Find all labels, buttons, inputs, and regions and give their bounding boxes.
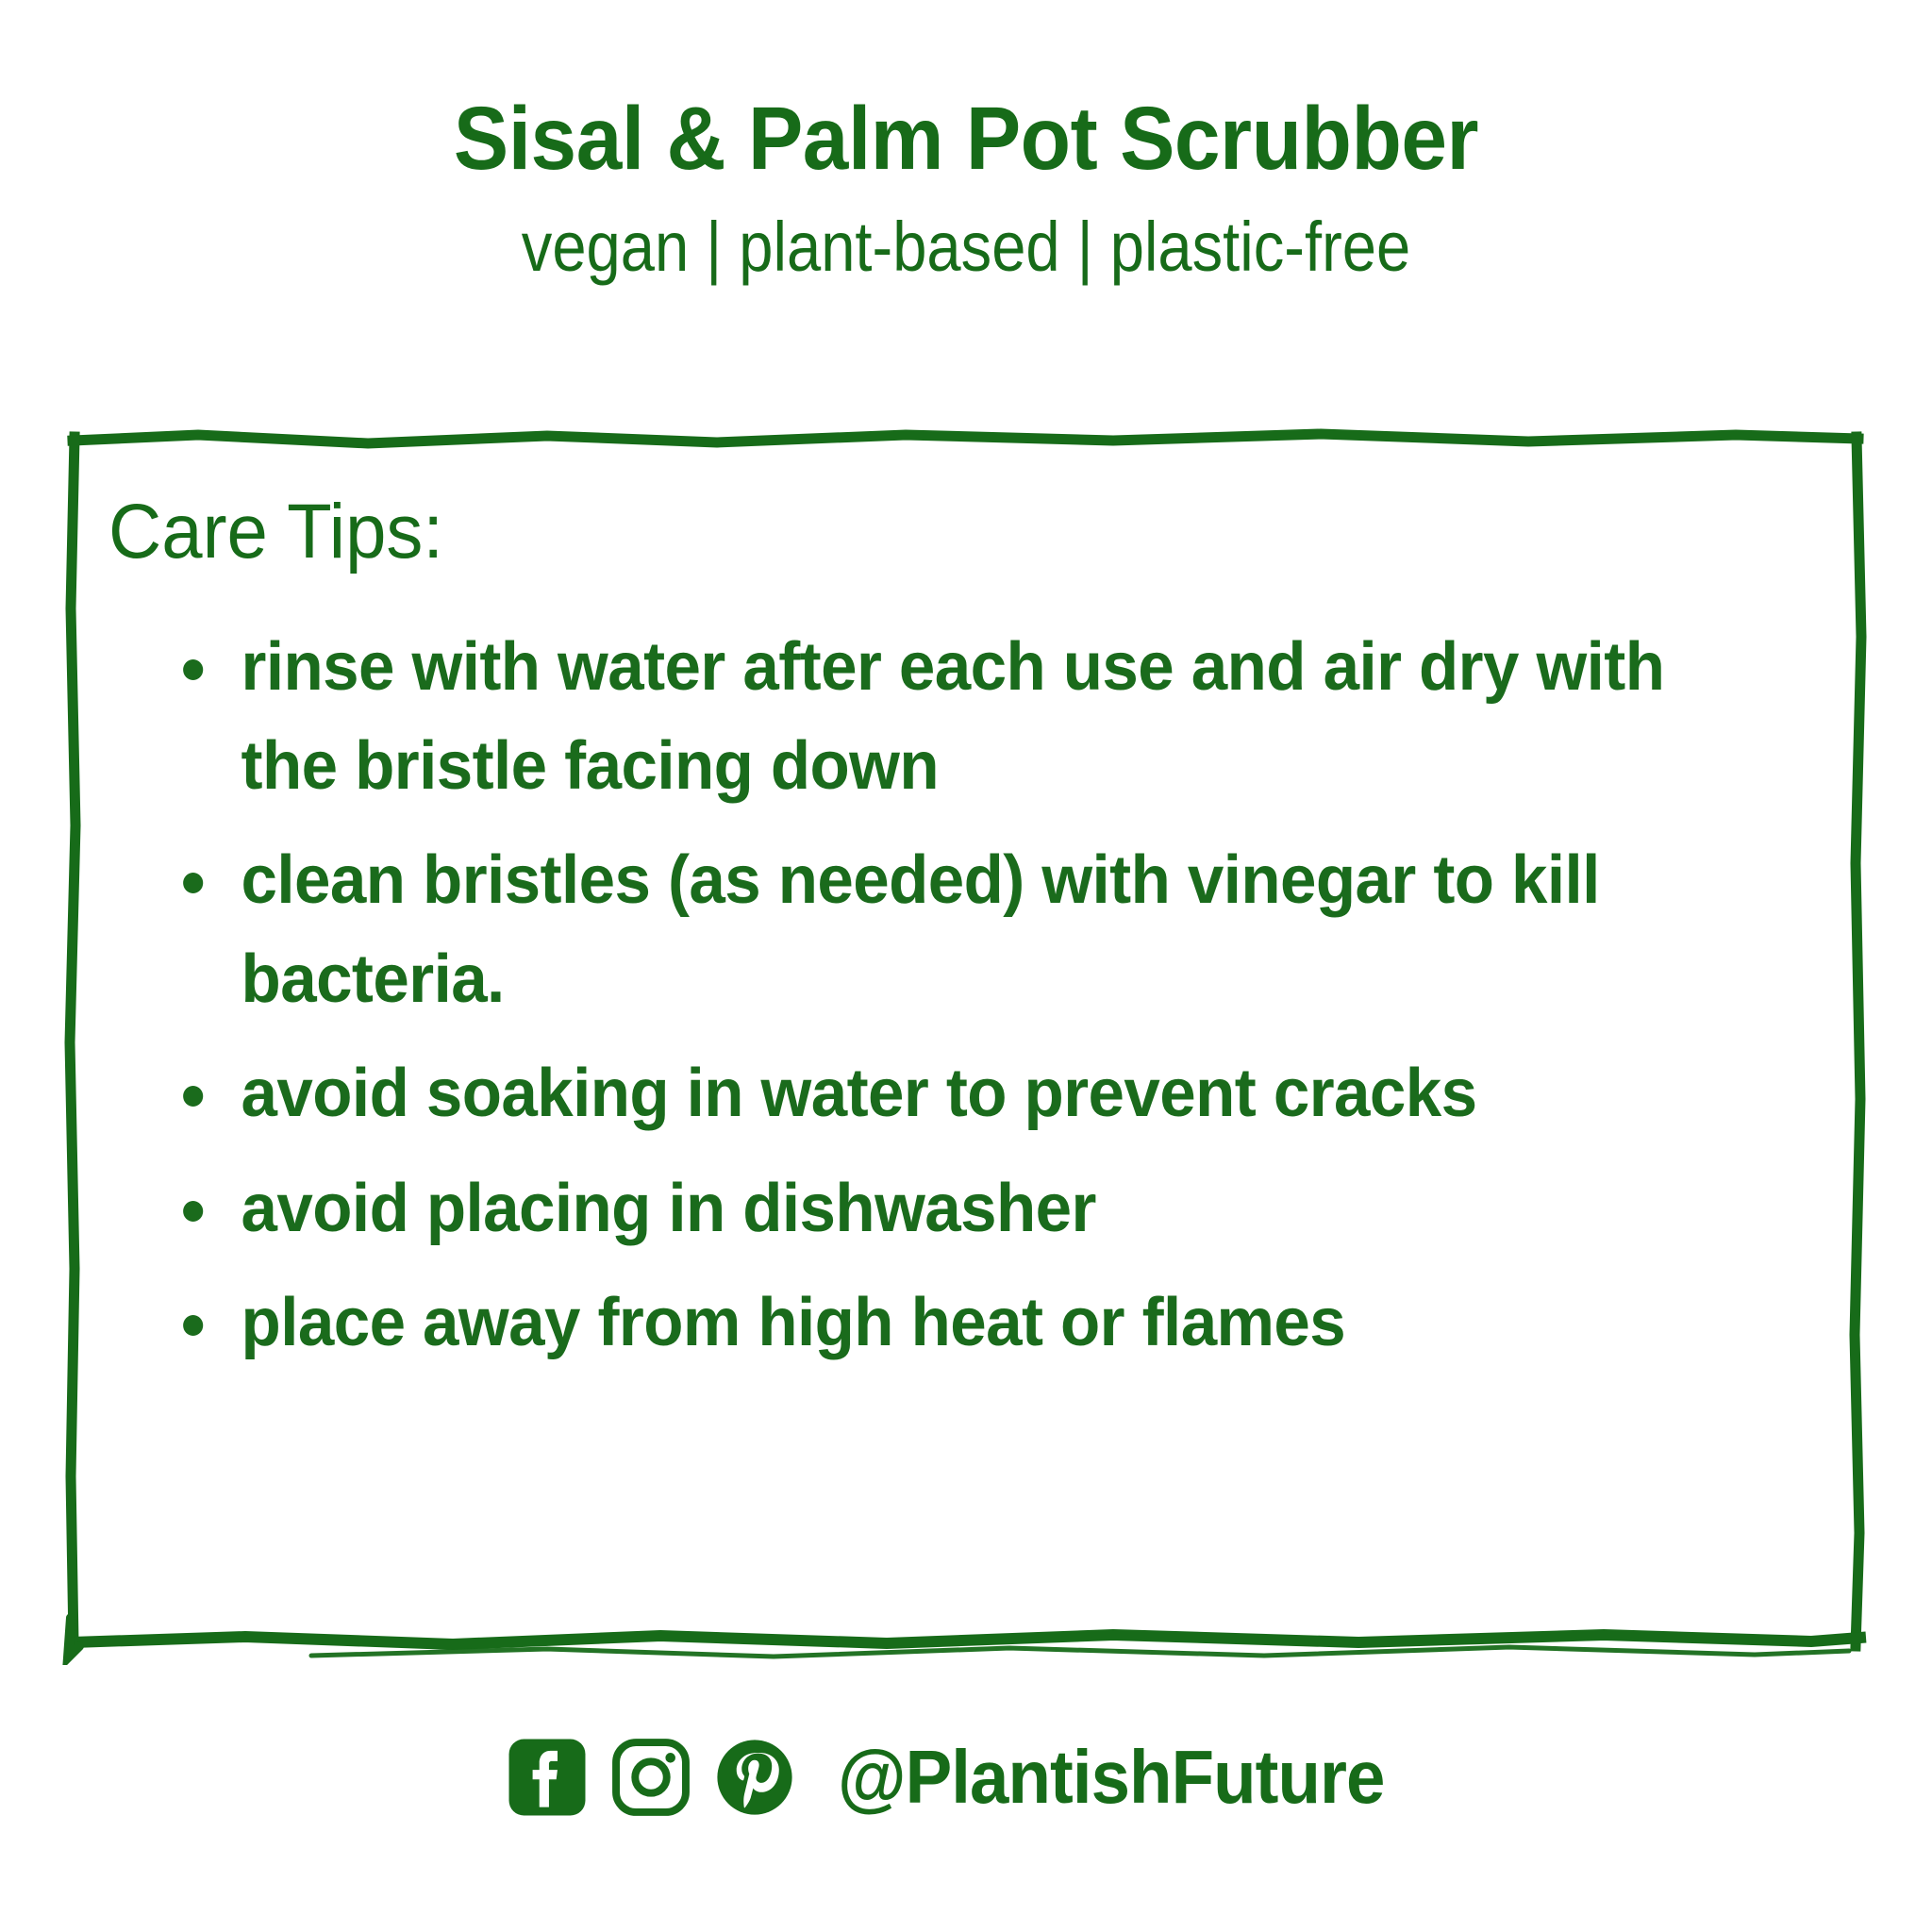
facebook-icon[interactable] <box>506 1736 589 1819</box>
instagram-icon[interactable] <box>609 1736 692 1819</box>
care-tips-content: Care Tips: rinse with water after each u… <box>108 493 1844 1625</box>
poster-canvas: Sisal & Palm Pot Scrubber vegan | plant-… <box>0 0 1932 1932</box>
page-title: Sisal & Palm Pot Scrubber <box>77 91 1855 188</box>
bullet-icon <box>183 1201 203 1222</box>
list-item-label: place away from high heat or flames <box>241 1285 1346 1360</box>
social-handle[interactable]: @PlantishFuture <box>838 1740 1384 1815</box>
list-item: avoid soaking in water to prevent cracks <box>163 1044 1777 1143</box>
list-item: avoid placing in dishwasher <box>163 1159 1777 1258</box>
header: Sisal & Palm Pot Scrubber vegan | plant-… <box>0 91 1932 285</box>
bullet-icon <box>183 1315 203 1336</box>
social-footer: @PlantishFuture <box>0 1736 1932 1819</box>
care-tips-box: Care Tips: rinse with water after each u… <box>57 420 1875 1665</box>
bullet-icon <box>183 659 203 680</box>
bullet-icon <box>183 873 203 893</box>
list-item: place away from high heat or flames <box>163 1274 1777 1373</box>
list-item: clean bristles (as needed) with vinegar … <box>163 831 1777 1029</box>
care-tips-list: rinse with water after each use and air … <box>163 618 1844 1373</box>
list-item-label: clean bristles (as needed) with vinegar … <box>241 842 1600 1017</box>
list-item-label: avoid soaking in water to prevent cracks <box>241 1056 1477 1131</box>
page-subtitle: vegan | plant-based | plastic-free <box>116 208 1816 285</box>
bullet-icon <box>183 1086 203 1107</box>
list-item-label: rinse with water after each use and air … <box>241 629 1665 804</box>
pinterest-icon[interactable] <box>713 1736 796 1819</box>
list-item: rinse with water after each use and air … <box>163 618 1777 816</box>
care-tips-heading: Care Tips: <box>108 493 1757 571</box>
list-item-label: avoid placing in dishwasher <box>241 1171 1096 1246</box>
